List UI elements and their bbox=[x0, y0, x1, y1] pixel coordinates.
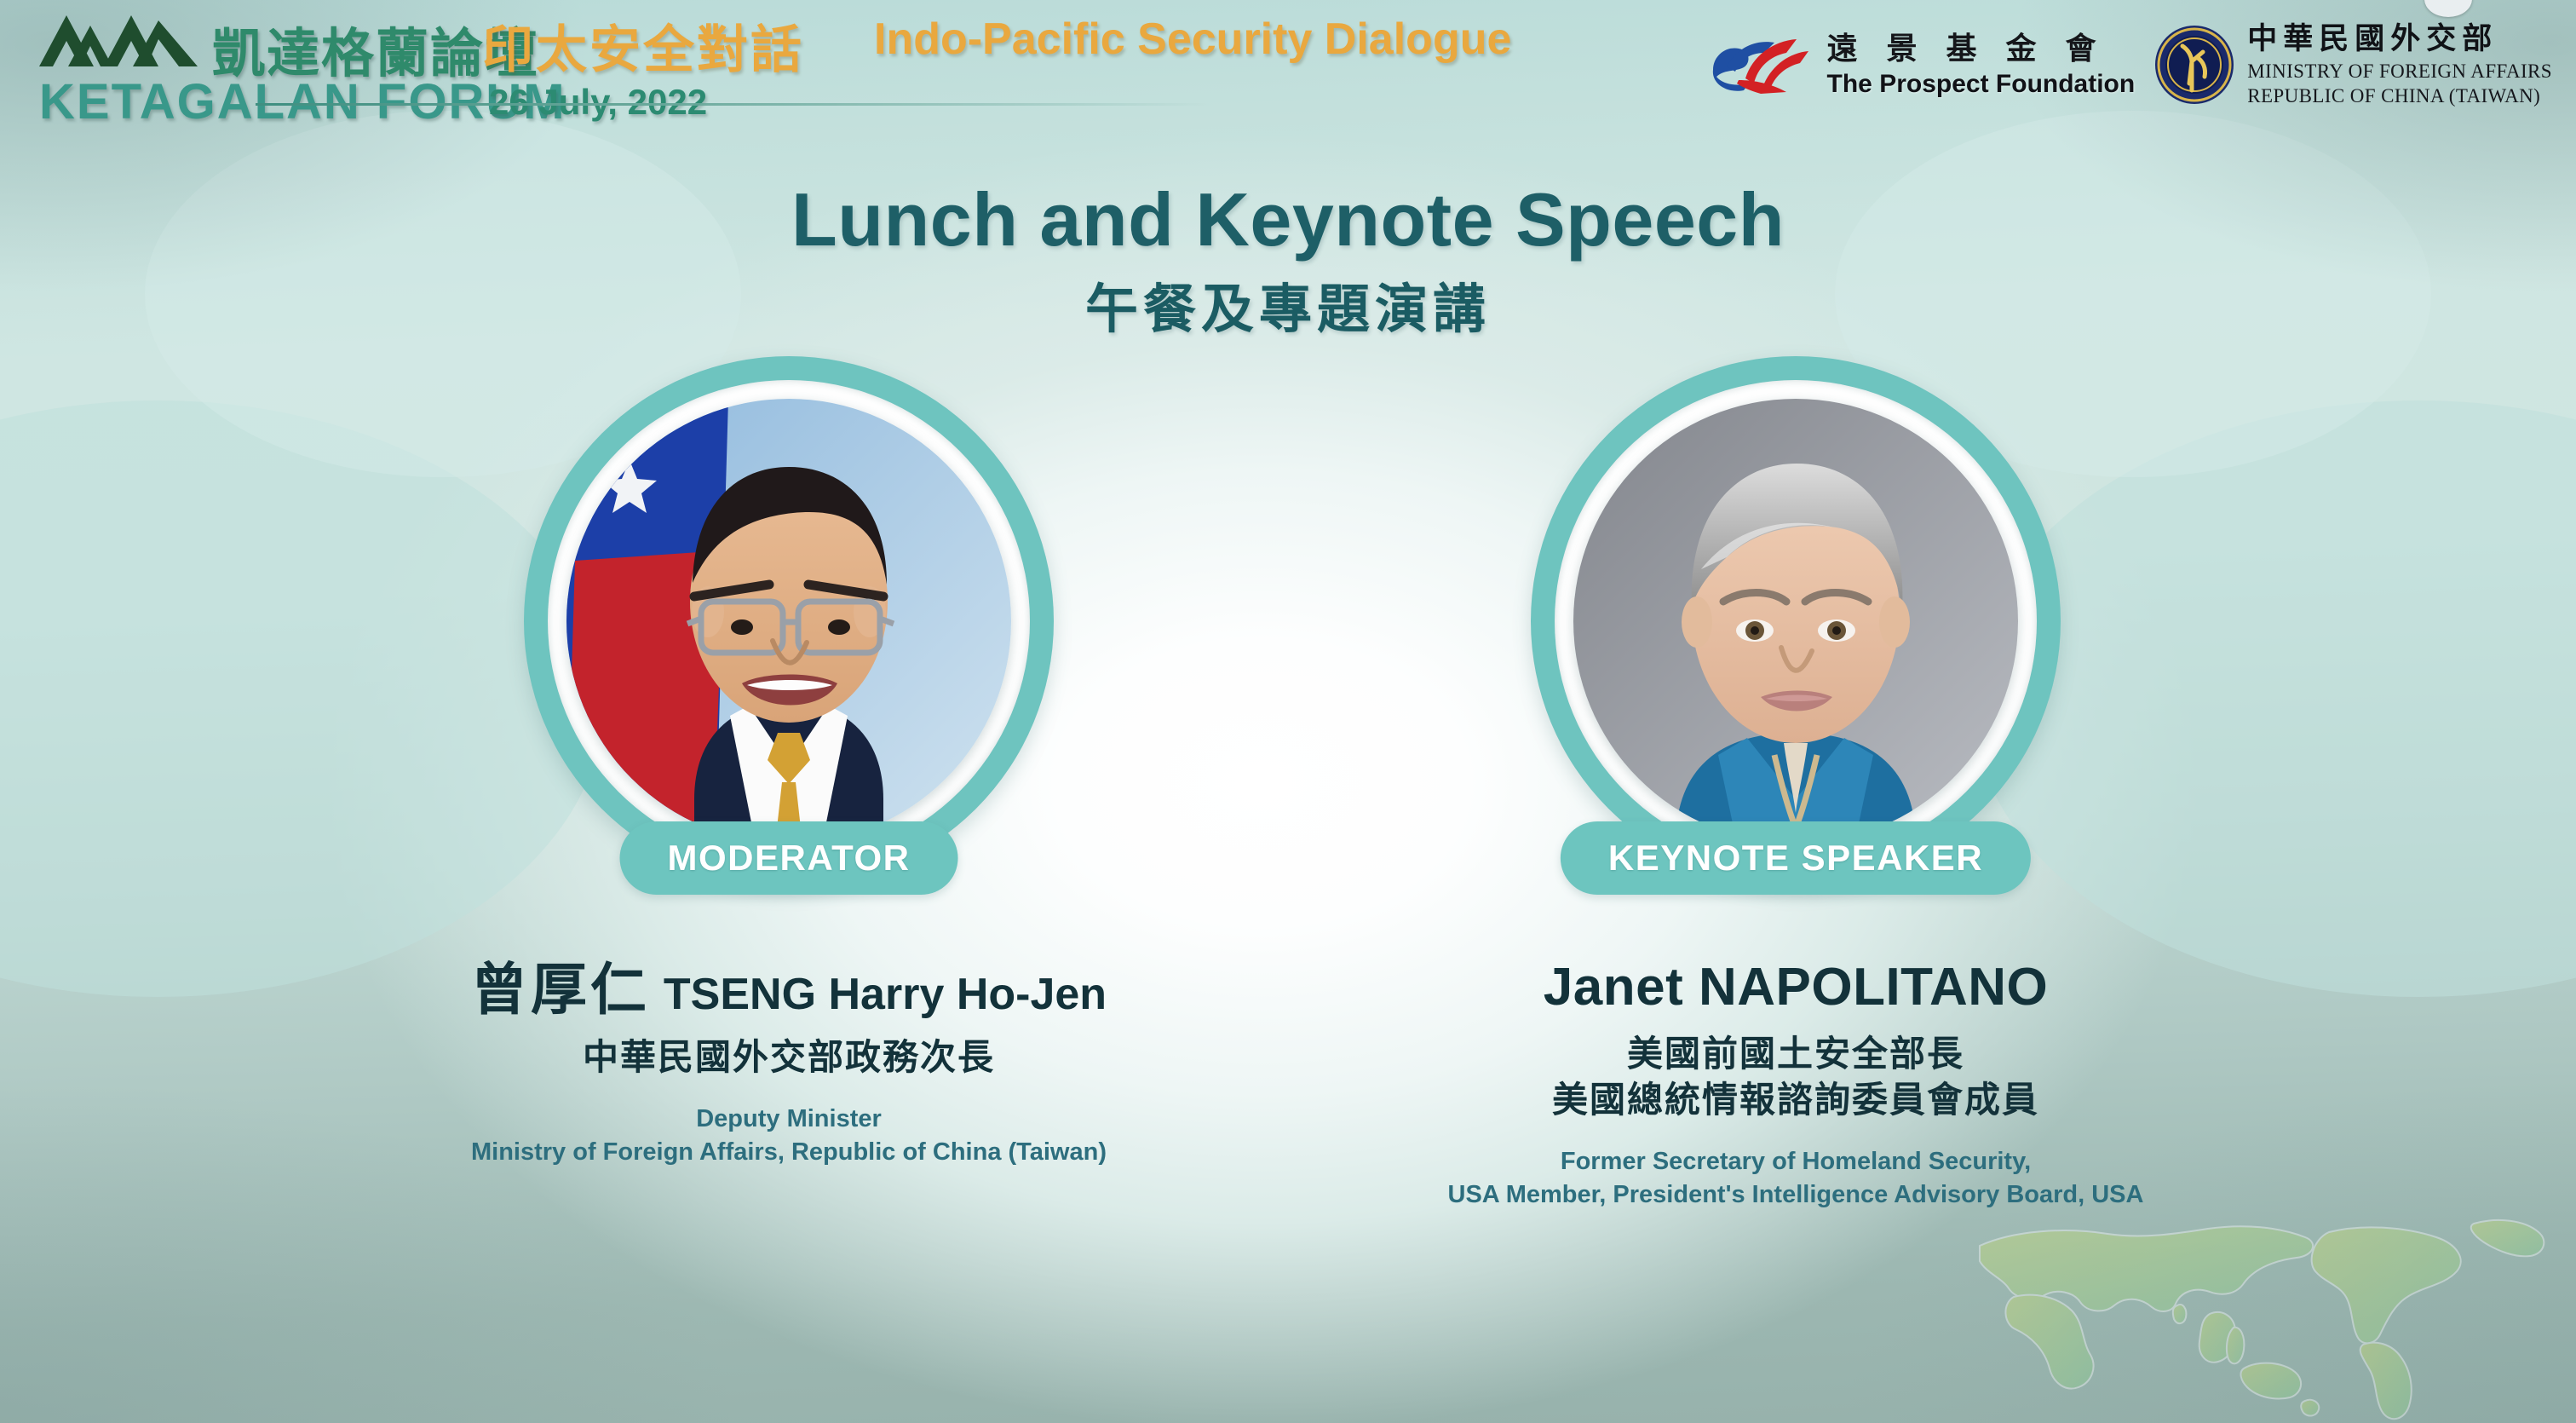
header-divider-line bbox=[256, 103, 1210, 106]
mouse-cursor-artifact bbox=[2424, 0, 2472, 17]
subtitle-english: Indo-Pacific Security Dialogue bbox=[874, 14, 1511, 65]
moderator-title-english: Deputy Minister Ministry of Foreign Affa… bbox=[295, 1103, 1283, 1169]
prospect-foundation-english: The Prospect Foundation bbox=[1827, 72, 2136, 97]
speaker-card-moderator: MODERATOR 曾厚仁TSENG Harry Ho-Jen 中華民國外交部政… bbox=[295, 356, 1283, 1169]
keynote-role-badge: KEYNOTE SPEAKER bbox=[1561, 821, 2031, 895]
slide-canvas: 凱達格蘭論壇 KETAGALAN FORUM 印太安全對話 Indo-Pacif… bbox=[0, 0, 2576, 1423]
moderator-title-chinese: 中華民國外交部政務次長 bbox=[295, 1034, 1283, 1080]
keynote-title-chinese-line1: 美國前國土安全部長 bbox=[1302, 1031, 2290, 1077]
moderator-role-label: MODERATOR bbox=[668, 838, 911, 879]
partner-logos: 遠 景 基 金 會 The Prospect Foundation 中華民國外交… bbox=[1708, 15, 2552, 114]
moderator-portrait bbox=[566, 399, 1011, 844]
moderator-name-line: 曾厚仁TSENG Harry Ho-Jen bbox=[295, 961, 1283, 1017]
session-title-english: Lunch and Keynote Speech bbox=[0, 181, 2576, 259]
prospect-foundation-logo: 遠 景 基 金 會 The Prospect Foundation bbox=[1708, 31, 2136, 99]
event-date: 26 July, 2022 bbox=[489, 82, 707, 123]
moderator-title-english-line2: Ministry of Foreign Affairs, Republic of… bbox=[295, 1136, 1283, 1169]
keynote-name-line: Janet NAPOLITANO bbox=[1302, 961, 2290, 1014]
moderator-title-english-line1: Deputy Minister bbox=[295, 1103, 1283, 1136]
session-title-chinese: 午餐及專題演講 bbox=[0, 266, 2576, 343]
mountain-logo-icon bbox=[37, 12, 199, 68]
world-map-decoration bbox=[1963, 1208, 2559, 1421]
prospect-foundation-mark-icon bbox=[1708, 31, 1815, 99]
keynote-portrait bbox=[1573, 399, 2018, 844]
moderator-role-badge: MODERATOR bbox=[620, 821, 958, 895]
slide-header: 凱達格蘭論壇 KETAGALAN FORUM 印太安全對話 Indo-Pacif… bbox=[0, 0, 2576, 145]
keynote-title-chinese-line2: 美國總統情報諮詢委員會成員 bbox=[1302, 1077, 2290, 1123]
mofa-english-line1: MINISTRY OF FOREIGN AFFAIRS bbox=[2247, 61, 2552, 83]
ketagalan-forum-brand: 凱達格蘭論壇 KETAGALAN FORUM bbox=[37, 7, 515, 135]
keynote-title-english-line1: Former Secretary of Homeland Security, bbox=[1302, 1145, 2290, 1178]
moderator-name-english: TSENG Harry Ho-Jen bbox=[664, 970, 1107, 1019]
prospect-foundation-chinese: 遠 景 基 金 會 bbox=[1827, 33, 2136, 64]
keynote-photo-wrap: KEYNOTE SPEAKER bbox=[1506, 356, 2085, 886]
moderator-name-chinese: 曾厚仁 bbox=[471, 958, 650, 1021]
mofa-chinese: 中華民國外交部 bbox=[2247, 23, 2552, 55]
subtitle-chinese: 印太安全對話 bbox=[482, 9, 804, 83]
mofa-logo: 中華民國外交部 MINISTRY OF FOREIGN AFFAIRS REPU… bbox=[2153, 23, 2552, 107]
keynote-title-chinese: 美國前國土安全部長 美國總統情報諮詢委員會成員 bbox=[1302, 1031, 2290, 1123]
moderator-photo-wrap: MODERATOR bbox=[499, 356, 1078, 886]
keynote-title-english-line2: USA Member, President's Intelligence Adv… bbox=[1302, 1178, 2290, 1212]
mofa-english-line2: REPUBLIC OF CHINA (TAIWAN) bbox=[2247, 86, 2552, 107]
session-title-block: Lunch and Keynote Speech 午餐及專題演講 bbox=[0, 181, 2576, 343]
speaker-card-keynote: KEYNOTE SPEAKER Janet NAPOLITANO 美國前國土安全… bbox=[1302, 356, 2290, 1212]
keynote-name-english: Janet NAPOLITANO bbox=[1544, 958, 2048, 1017]
mofa-seal-icon bbox=[2153, 24, 2235, 106]
keynote-title-english: Former Secretary of Homeland Security, U… bbox=[1302, 1145, 2290, 1212]
keynote-role-label: KEYNOTE SPEAKER bbox=[1608, 838, 1983, 879]
